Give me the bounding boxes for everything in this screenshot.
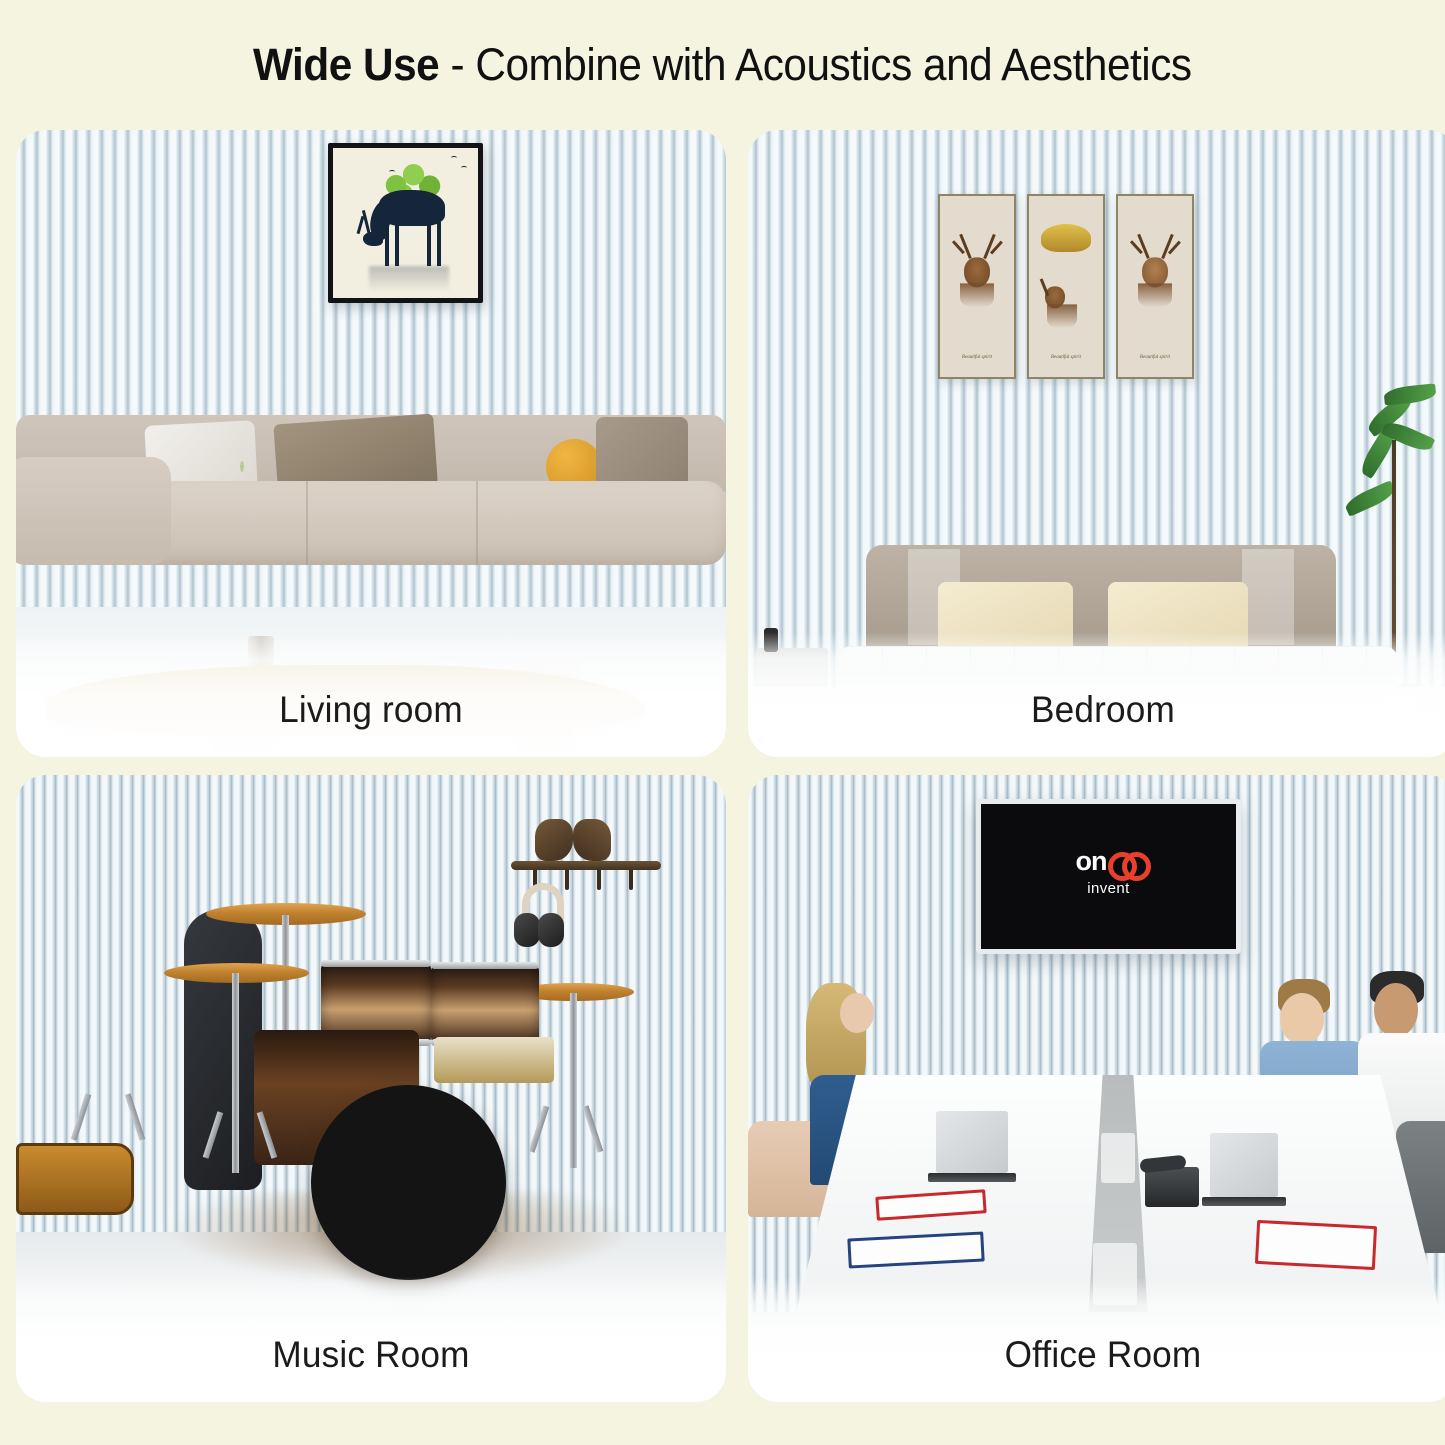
bed-pillow (938, 582, 1073, 654)
antler-icon (983, 234, 995, 259)
cable-slot (1101, 1133, 1135, 1183)
watercolor-drip (1138, 283, 1172, 307)
bird-icon (451, 156, 457, 160)
cymbal-tripod (76, 1093, 140, 1139)
logo-text-primary: on (1076, 848, 1107, 875)
person-head (1280, 993, 1324, 1045)
infinity-icon (1108, 852, 1142, 871)
plant-leaf (1383, 383, 1436, 405)
art-card-caption: Beautiful spirit (1118, 355, 1192, 360)
art-card-caption: Beautiful spirit (1029, 355, 1103, 360)
deer-head (363, 232, 383, 246)
panel-caption-office-room: Office Room (766, 1334, 1441, 1376)
art-card-3: Beautiful spirit (1116, 194, 1194, 379)
sofa-chaise (16, 457, 171, 565)
laptop-keyboard (928, 1173, 1016, 1182)
deer-leg (437, 222, 441, 266)
antler-icon (959, 234, 971, 259)
laptop-left[interactable] (936, 1111, 1008, 1173)
panel-bedroom[interactable]: Beautiful spirit Beautiful spirit (748, 130, 1445, 757)
page-title-bold: Wide Use (253, 39, 439, 90)
laptop-keyboard (1202, 1197, 1286, 1206)
clipboard-sheet (850, 1235, 981, 1266)
deer-tree-poster (328, 143, 483, 303)
antler-icon (1161, 234, 1173, 259)
rack-branch (511, 861, 661, 870)
laptop-screen (936, 1111, 1008, 1173)
person-head (840, 993, 874, 1033)
headphones (516, 883, 570, 949)
page-title-rest: - Combine with Acoustics and Aesthetics (439, 39, 1191, 90)
art-card-caption: Beautiful spirit (940, 355, 1014, 360)
deer-leg (427, 220, 431, 266)
deer-leg (395, 224, 399, 266)
clipboard-sheet (1258, 1223, 1374, 1267)
coat-hook (597, 870, 601, 890)
panel-caption-bedroom: Bedroom (766, 689, 1441, 731)
panel-living-room[interactable]: Living room (16, 130, 726, 757)
cushion-seam (306, 481, 308, 565)
deer-triptych: Beautiful spirit Beautiful spirit (938, 194, 1194, 379)
hi-hat-tripod (534, 1105, 598, 1151)
pillow-taupe (596, 417, 688, 489)
table-lamp (764, 628, 778, 652)
deer-leg (385, 222, 389, 266)
logo-text-secondary: invent (1076, 880, 1142, 897)
drum-rim (431, 962, 539, 969)
cable-slot (1093, 1243, 1137, 1305)
person-head (1374, 983, 1418, 1037)
page-title: Wide Use - Combine with Acoustics and Ae… (253, 39, 1192, 91)
clipboard-red-2 (1255, 1220, 1377, 1270)
drum-rim (321, 960, 431, 967)
plant-leaf (1343, 480, 1397, 517)
bird-icon (461, 166, 467, 170)
header-banner: Wide Use - Combine with Acoustics and Ae… (0, 0, 1445, 130)
bed-pillow (1108, 582, 1248, 654)
room-gallery-grid: Living room Beautiful spirit (0, 130, 1445, 1420)
sectional-sofa (16, 415, 726, 595)
rack-tom-right (431, 965, 539, 1043)
stag-coat-rack (511, 817, 661, 893)
snare-drum (434, 1037, 554, 1083)
headphone-earcup (538, 913, 564, 947)
bass-drum (311, 1085, 506, 1280)
panel-caption-music-room: Music Room (34, 1334, 709, 1376)
headphone-earcup (514, 913, 540, 947)
panel-office-room[interactable]: on invent (748, 775, 1445, 1402)
antler-icon (1137, 234, 1149, 259)
bird-icon (389, 170, 395, 174)
logo-wordmark: on (1076, 848, 1142, 875)
wall-mounted-tv[interactable]: on invent (976, 799, 1241, 954)
clipboard-sheet (878, 1192, 983, 1217)
desk-phone[interactable] (1145, 1167, 1199, 1207)
panel-music-room[interactable]: Music Room (16, 775, 726, 1402)
cymbal-tripod (208, 1111, 272, 1157)
art-card-2: Beautiful spirit (1027, 194, 1105, 379)
deer-body-gold (1041, 224, 1091, 252)
violin-case (16, 1143, 134, 1215)
panel-caption-living-room: Living room (34, 689, 709, 731)
laptop-right[interactable] (1210, 1133, 1278, 1197)
laptop-screen (1210, 1133, 1278, 1197)
onco-invent-logo: on invent (1076, 848, 1142, 897)
watercolor-drip (1047, 304, 1077, 328)
watercolor-drip (960, 283, 994, 307)
deer-reflection (369, 266, 449, 292)
stag-figure (535, 819, 573, 861)
stag-figure (573, 819, 611, 861)
bed-headboard (866, 545, 1336, 650)
cushion-seam (476, 481, 478, 565)
coat-hook (629, 870, 633, 890)
art-card-1: Beautiful spirit (938, 194, 1016, 379)
